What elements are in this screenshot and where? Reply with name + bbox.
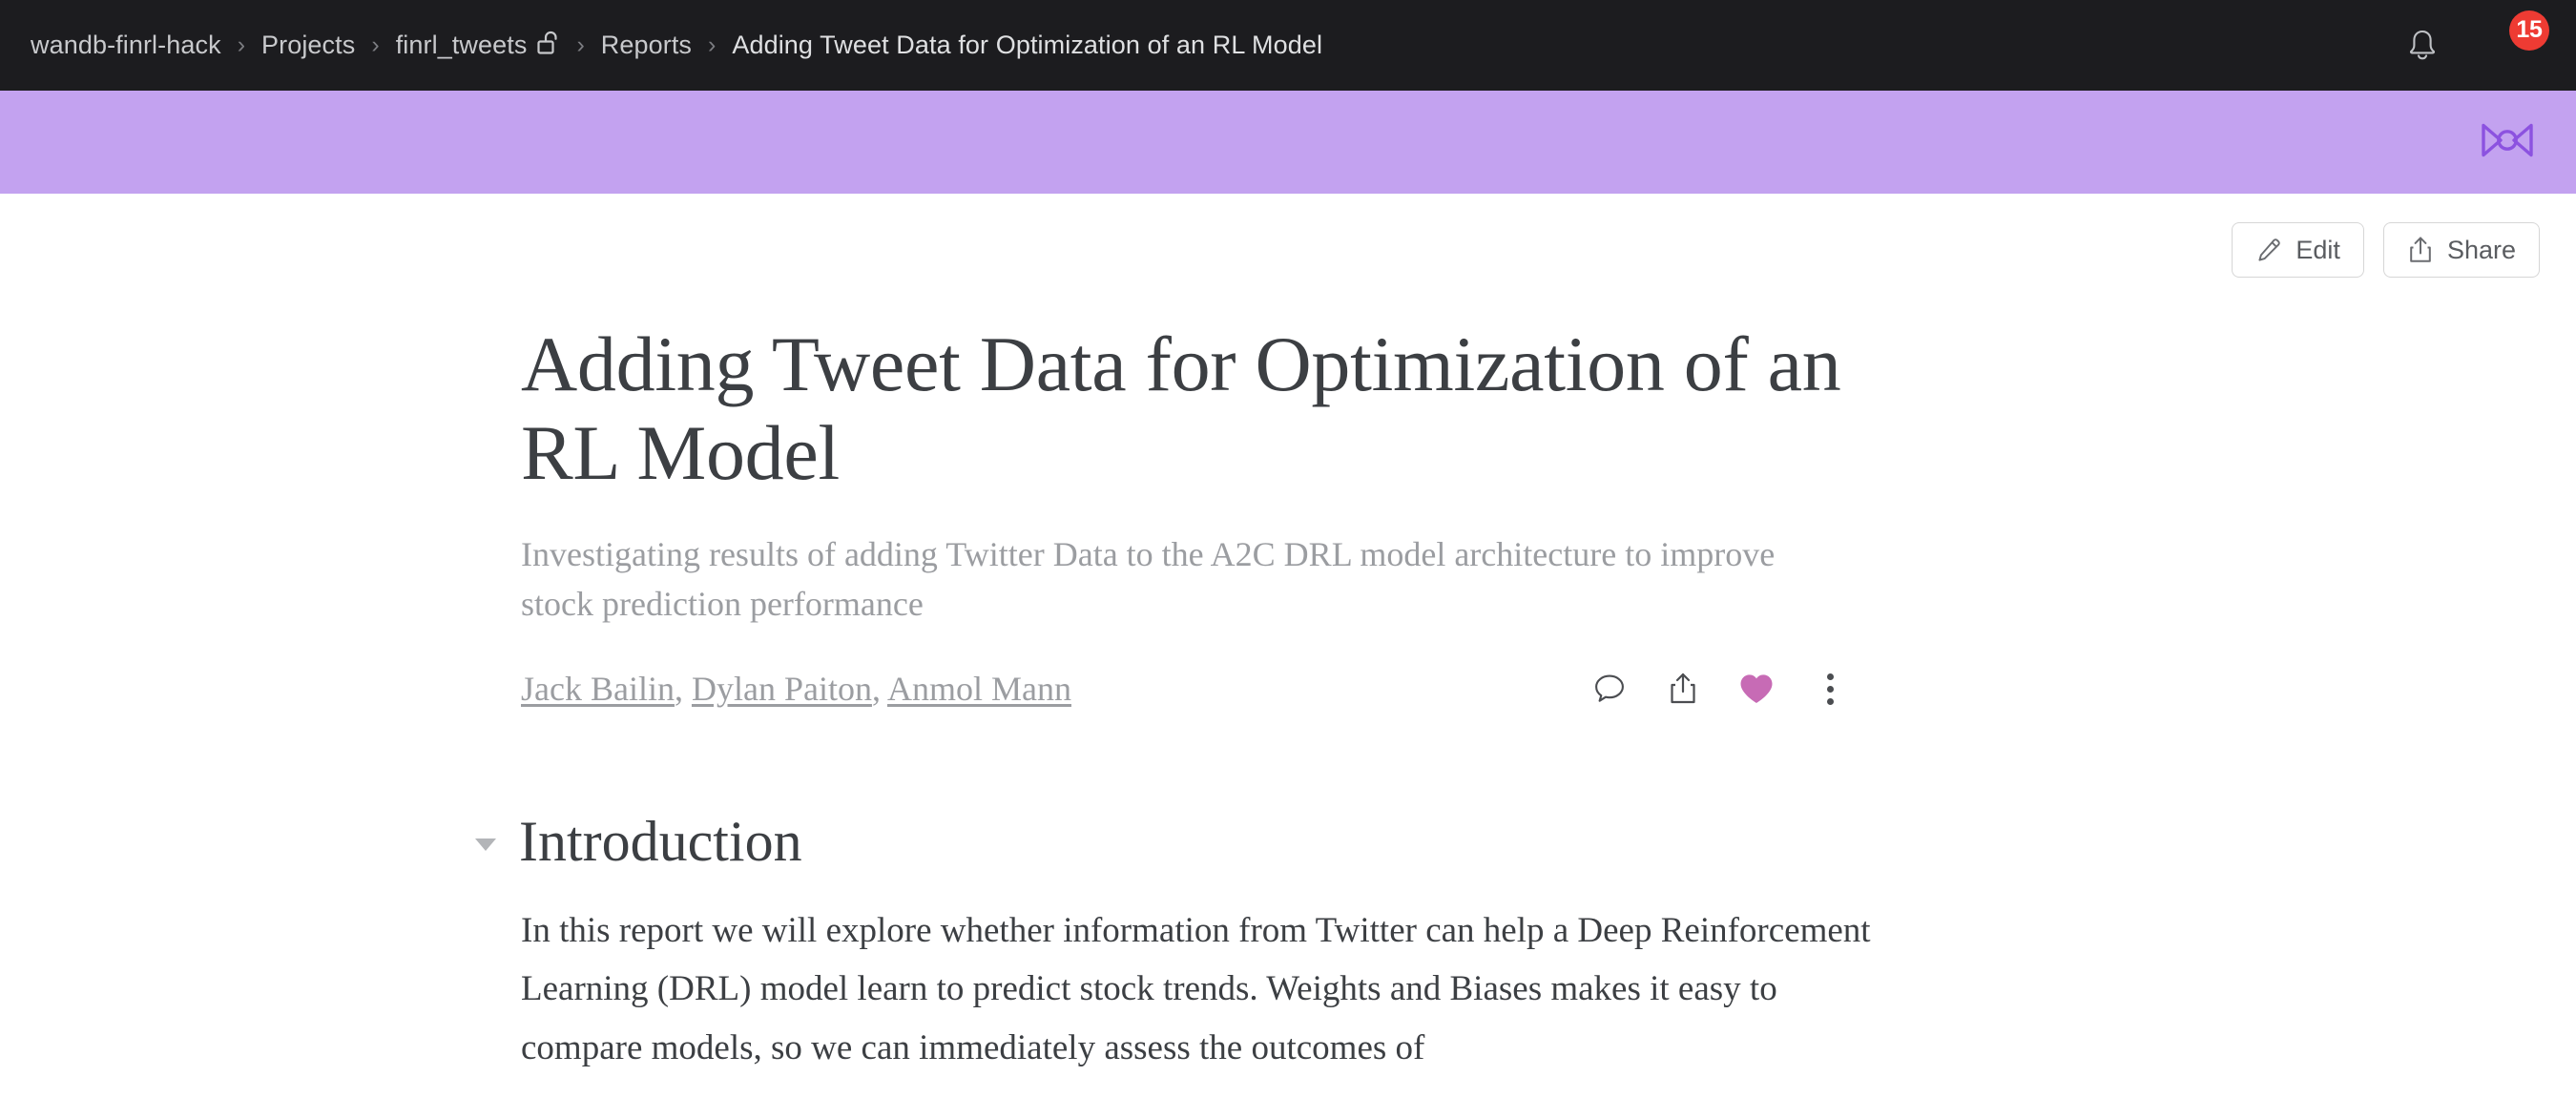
breadcrumb-item-reports[interactable]: Reports [601, 31, 692, 60]
comment-icon[interactable] [1589, 668, 1631, 710]
report-body: Adding Tweet Data for Optimization of an… [0, 278, 2576, 1077]
share-upload-icon [2407, 236, 2434, 264]
edit-button[interactable]: Edit [2232, 222, 2364, 278]
share-icon[interactable] [1662, 668, 1704, 710]
share-button-label: Share [2447, 236, 2516, 265]
breadcrumb-project-label[interactable]: finrl_tweets [396, 31, 528, 60]
breadcrumb-item-current-report: Adding Tweet Data for Optimization of an… [732, 31, 1322, 60]
breadcrumb-item-entity[interactable]: wandb-finrl-hack [31, 31, 221, 60]
unlock-icon [537, 30, 560, 61]
notification-count-badge: 15 [2509, 10, 2549, 51]
breadcrumb-item-project[interactable]: finrl_tweets [396, 30, 561, 61]
author-link[interactable]: Jack Bailin [521, 670, 675, 708]
more-options-icon[interactable] [1809, 668, 1851, 710]
author-separator: , [872, 670, 887, 708]
author-link[interactable]: Anmol Mann [887, 670, 1071, 708]
report-toolbar: Edit Share [0, 194, 2576, 278]
breadcrumb: wandb-finrl-hack › Projects › finrl_twee… [31, 30, 2378, 61]
avatar[interactable]: 15 [2484, 18, 2540, 73]
edit-button-label: Edit [2296, 236, 2340, 265]
chevron-down-icon[interactable] [475, 838, 496, 851]
top-navigation-bar: wandb-finrl-hack › Projects › finrl_twee… [0, 0, 2576, 91]
section-paragraph: In this report we will explore whether i… [521, 901, 1876, 1077]
breadcrumb-item-projects[interactable]: Projects [261, 31, 355, 60]
report-cover-banner [0, 91, 2576, 194]
wandb-bowtie-logo-icon[interactable] [2481, 119, 2534, 166]
breadcrumb-separator: › [576, 33, 584, 57]
share-button[interactable]: Share [2383, 222, 2540, 278]
report-subtitle: Investigating results of adding Twitter … [521, 529, 1790, 630]
breadcrumb-separator: › [708, 33, 716, 57]
author-and-actions-row: Jack Bailin, Dylan Paiton, Anmol Mann [521, 668, 1876, 710]
topbar-right-actions: 15 [2400, 18, 2540, 73]
breadcrumb-separator: › [371, 33, 379, 57]
author-separator: , [675, 670, 692, 708]
heart-icon[interactable] [1735, 668, 1777, 710]
author-link[interactable]: Dylan Paiton [692, 670, 872, 708]
author-list: Jack Bailin, Dylan Paiton, Anmol Mann [521, 669, 1071, 709]
section-title: Introduction [519, 810, 802, 873]
section-heading-introduction: Introduction [475, 810, 1876, 873]
bell-icon[interactable] [2400, 24, 2444, 68]
report-post-actions [1589, 668, 1876, 710]
pencil-icon [2255, 237, 2282, 263]
breadcrumb-separator: › [238, 33, 245, 57]
page-title: Adding Tweet Data for Optimization of an… [521, 320, 1876, 498]
